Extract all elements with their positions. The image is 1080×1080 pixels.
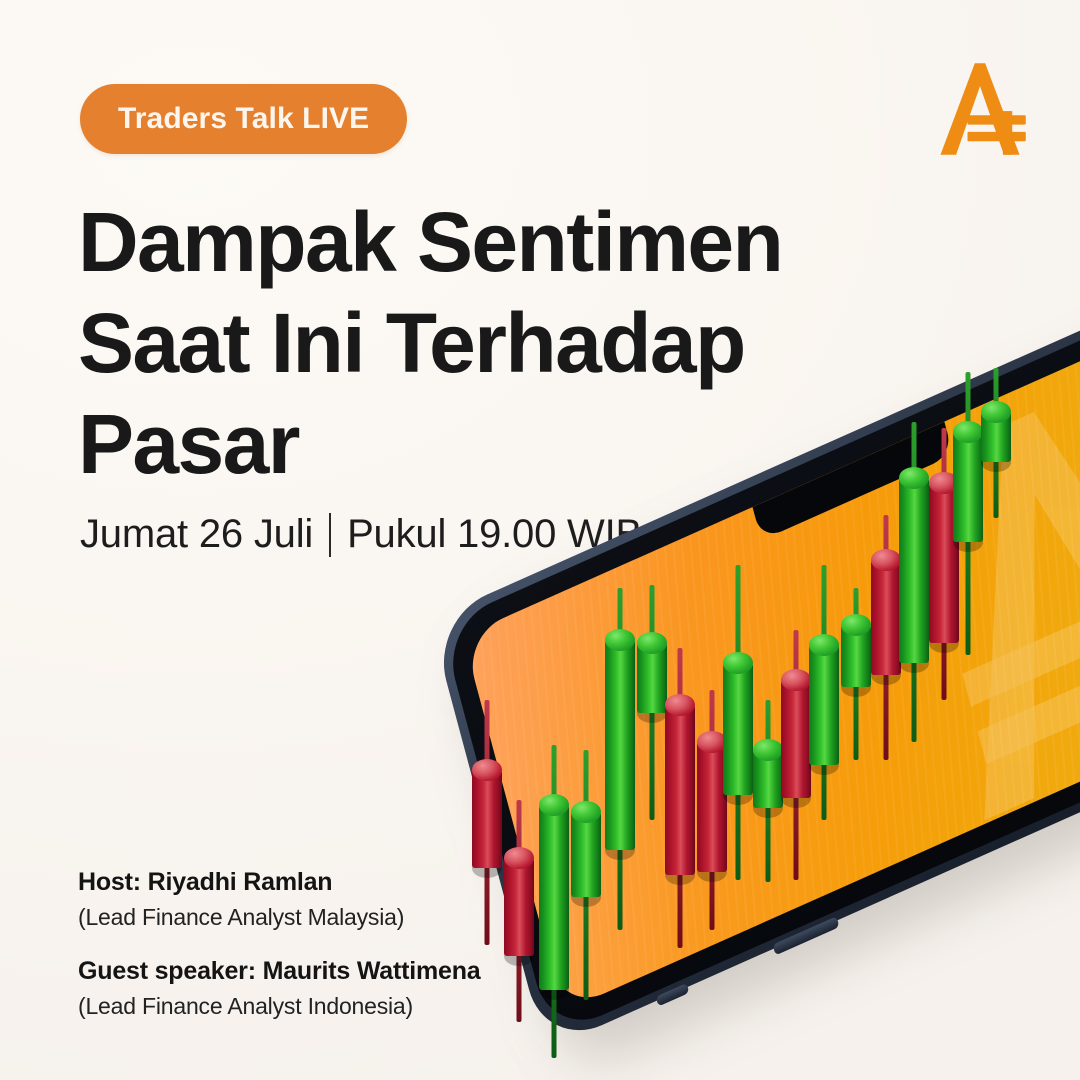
credits: Host: Riyadhi Ramlan (Lead Finance Analy… (78, 868, 481, 1020)
smartphone-illustration (430, 254, 1080, 1050)
screen-sheen (463, 293, 1080, 1012)
credit-host: Host: Riyadhi Ramlan (Lead Finance Analy… (78, 868, 481, 931)
guest-name: Guest speaker: Maurits Wattimena (78, 957, 481, 986)
host-role: (Lead Finance Analyst Malaysia) (78, 904, 481, 931)
host-name: Host: Riyadhi Ramlan (78, 868, 481, 897)
phone-body (430, 254, 1080, 1050)
phone-screen (463, 293, 1080, 1012)
phone-frame (441, 266, 1080, 1037)
guest-role: (Lead Finance Analyst Indonesia) (78, 993, 481, 1020)
credit-guest: Guest speaker: Maurits Wattimena (Lead F… (78, 957, 481, 1020)
promo-poster: Traders Talk LIVE Dampak Sentimen Saat I… (0, 0, 1080, 1080)
